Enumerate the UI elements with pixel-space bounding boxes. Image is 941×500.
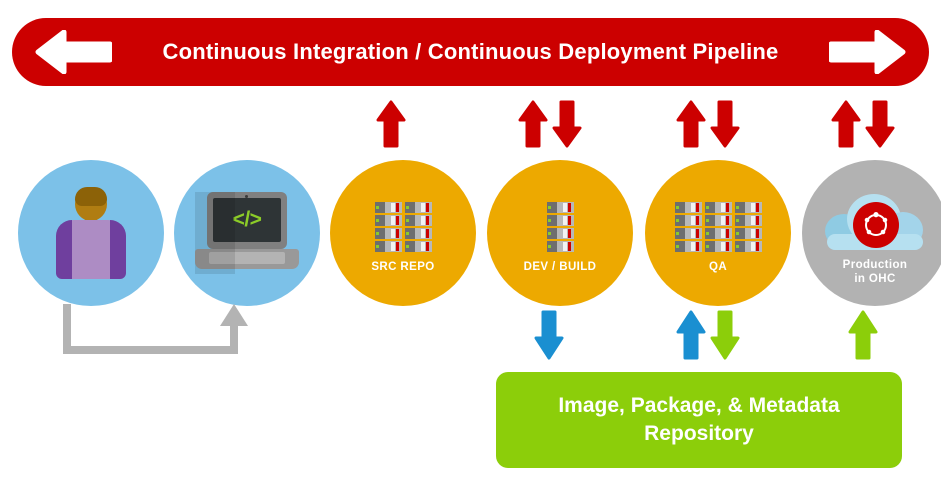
node-label-dev-build: DEV / BUILD xyxy=(487,260,633,274)
node-dev-build[interactable]: DEV / BUILD xyxy=(487,160,633,306)
repo-arrow-production-up xyxy=(848,310,878,360)
openshift-logo-icon xyxy=(861,210,891,240)
openshift-badge-icon xyxy=(853,202,899,248)
repository-label: Image, Package, & Metadata Repository xyxy=(558,392,839,448)
server-rack-icon xyxy=(675,202,762,252)
server-rack-icon xyxy=(375,202,432,252)
code-glyph: </> xyxy=(213,198,281,242)
diagram-canvas: Continuous Integration / Continuous Depl… xyxy=(0,0,941,500)
connector-developer-to-workstation xyxy=(62,302,252,358)
laptop-code-icon: </> xyxy=(195,192,299,274)
pipeline-arrow-production-up xyxy=(831,100,861,148)
pipeline-arrow-src-repo-up xyxy=(376,100,406,148)
person-icon xyxy=(48,187,134,279)
pipeline-arrow-qa-down xyxy=(710,100,740,148)
node-label-production: Production in OHC xyxy=(802,258,941,286)
pipeline-title: Continuous Integration / Continuous Depl… xyxy=(163,39,779,65)
pipeline-arrow-qa-up xyxy=(676,100,706,148)
node-label-qa: QA xyxy=(645,260,791,274)
repo-arrow-qa-down xyxy=(710,310,740,360)
node-label-src-repo: SRC REPO xyxy=(330,260,476,274)
pipeline-banner: Continuous Integration / Continuous Depl… xyxy=(12,18,929,86)
node-developer[interactable] xyxy=(18,160,164,306)
node-qa[interactable]: QA xyxy=(645,160,791,306)
pipeline-arrow-production-down xyxy=(865,100,895,148)
node-workstation[interactable]: </> xyxy=(174,160,320,306)
arrow-right-icon xyxy=(829,30,907,74)
pipeline-arrow-dev-build-down xyxy=(552,100,582,148)
repo-arrow-dev-build-down xyxy=(534,310,564,360)
node-production[interactable]: Production in OHC xyxy=(802,160,941,306)
server-rack-icon xyxy=(547,202,574,252)
arrow-left-icon xyxy=(34,30,112,74)
cloud-openshift-icon xyxy=(823,184,927,256)
pipeline-arrow-dev-build-up xyxy=(518,100,548,148)
repo-arrow-qa-up xyxy=(676,310,706,360)
repository-box[interactable]: Image, Package, & Metadata Repository xyxy=(496,372,902,468)
node-src-repo[interactable]: SRC REPO xyxy=(330,160,476,306)
